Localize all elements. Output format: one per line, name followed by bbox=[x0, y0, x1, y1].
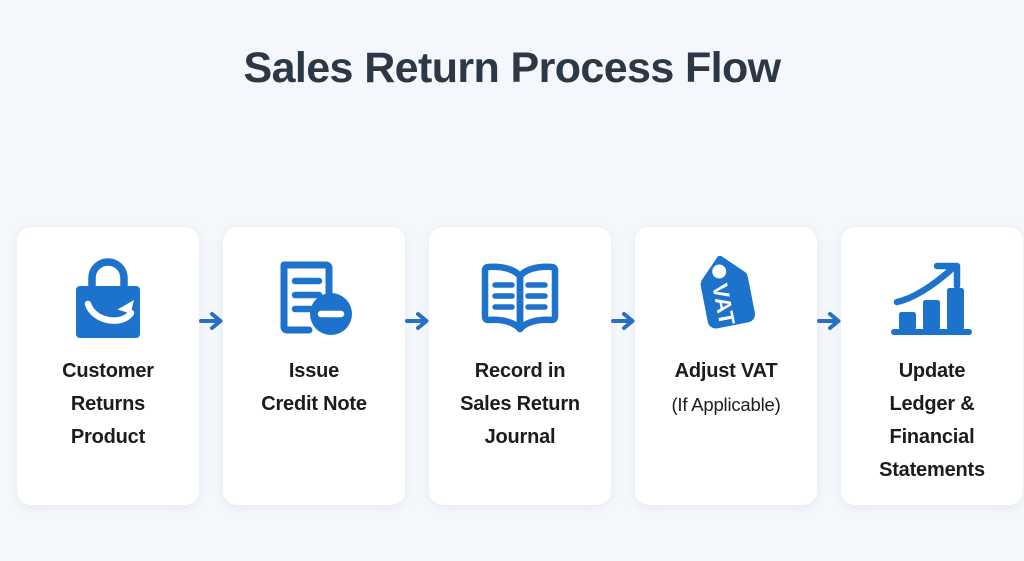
flow-step-label-line-1: Customer bbox=[62, 355, 154, 388]
flow-step-label-line-2: Returns bbox=[62, 388, 154, 421]
process-flow-page: Sales Return Process Flow Customer Retur… bbox=[0, 0, 1024, 561]
flow-connector-4 bbox=[817, 227, 841, 505]
flow-step-label-line-4: Statements bbox=[879, 454, 985, 487]
flow-step-label-line-3: Product bbox=[62, 421, 154, 454]
flow-step-label: Customer Returns Product bbox=[56, 355, 160, 454]
flow-step-issue-credit-note[interactable]: Issue Credit Note bbox=[223, 227, 405, 505]
flow-connector-2 bbox=[405, 227, 429, 505]
process-flow-container: Customer Returns Product bbox=[17, 227, 1007, 505]
arrow-right-icon bbox=[405, 310, 429, 332]
flow-step-label-line-3: Journal bbox=[460, 421, 580, 454]
flow-connector-3 bbox=[611, 227, 635, 505]
bar-chart-growth-icon bbox=[887, 253, 977, 345]
flow-step-label: Update Ledger & Financial Statements bbox=[873, 355, 991, 487]
flow-step-label-line-2: Ledger & bbox=[879, 388, 985, 421]
flow-step-label-line-3: Financial bbox=[879, 421, 985, 454]
page-title: Sales Return Process Flow bbox=[0, 44, 1024, 93]
flow-step-label-line-2: Credit Note bbox=[261, 388, 367, 421]
flow-step-label: Issue Credit Note bbox=[255, 355, 373, 421]
open-book-icon bbox=[475, 253, 565, 345]
flow-step-customer-returns-product[interactable]: Customer Returns Product bbox=[17, 227, 199, 505]
shopping-bag-return-icon bbox=[68, 253, 148, 345]
flow-step-label-line-1: Adjust VAT bbox=[675, 355, 778, 388]
document-minus-icon bbox=[273, 253, 355, 345]
vat-price-tag-icon: VAT bbox=[678, 253, 774, 345]
flow-step-record-in-sales-return-journal[interactable]: Record in Sales Return Journal bbox=[429, 227, 611, 505]
flow-step-update-ledger-financial-statements[interactable]: Update Ledger & Financial Statements bbox=[841, 227, 1023, 505]
flow-step-adjust-vat[interactable]: VAT Adjust VAT (If Applicable) bbox=[635, 227, 817, 505]
flow-connector-1 bbox=[199, 227, 223, 505]
arrow-right-icon bbox=[817, 310, 841, 332]
flow-step-label-line-1: Issue bbox=[261, 355, 367, 388]
flow-step-label-line-2: Sales Return bbox=[460, 388, 580, 421]
arrow-right-icon bbox=[199, 310, 223, 332]
flow-step-label: Record in Sales Return Journal bbox=[454, 355, 586, 454]
flow-step-label: Adjust VAT bbox=[669, 355, 784, 388]
flow-step-label-line-1: Record in bbox=[460, 355, 580, 388]
flow-step-sublabel: (If Applicable) bbox=[671, 388, 780, 421]
arrow-right-icon bbox=[611, 310, 635, 332]
flow-step-label-line-1: Update bbox=[879, 355, 985, 388]
